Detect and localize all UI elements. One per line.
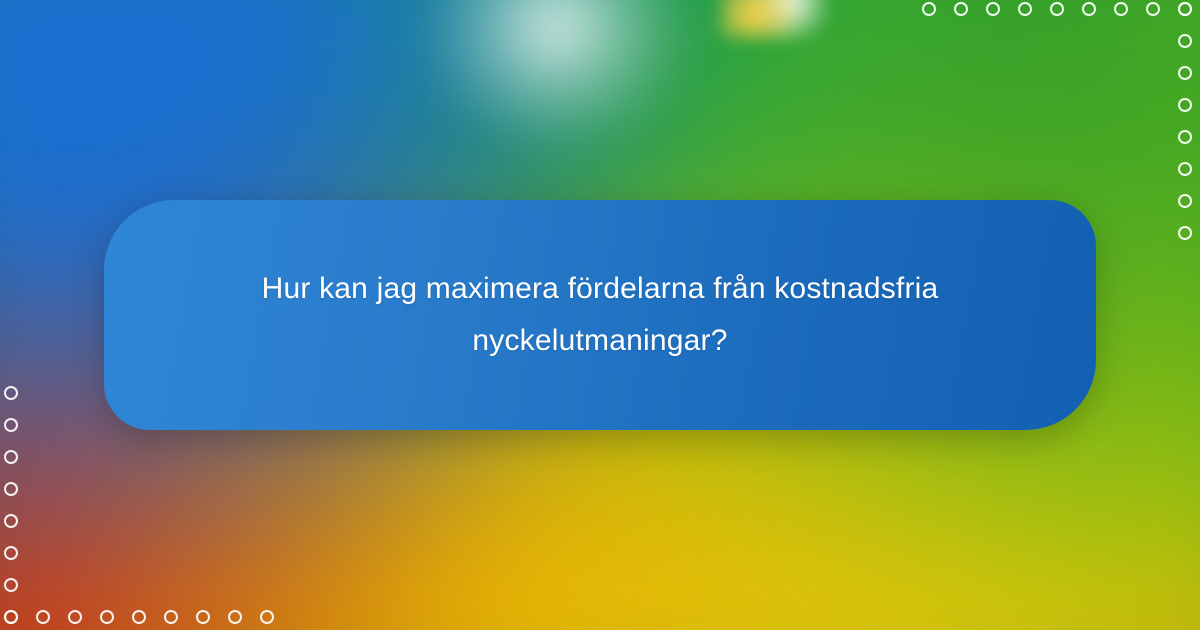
social-card-canvas: Hur kan jag maximera fördelarna från kos… [0, 0, 1200, 630]
dot [922, 2, 936, 16]
question-card: Hur kan jag maximera fördelarna från kos… [104, 200, 1096, 430]
dot [1178, 34, 1192, 48]
question-text: Hur kan jag maximera fördelarna från kos… [180, 263, 1020, 368]
dot-strip-bottom [4, 610, 274, 624]
dot-strip-top [922, 2, 1192, 16]
dot [1178, 226, 1192, 240]
dot [4, 578, 18, 592]
dot [4, 450, 18, 464]
dot [1178, 2, 1192, 16]
dot [132, 610, 146, 624]
dot [1178, 130, 1192, 144]
dot [1018, 2, 1032, 16]
dot [260, 610, 274, 624]
dot [4, 482, 18, 496]
dot [1146, 2, 1160, 16]
dot [1050, 2, 1064, 16]
dot [1082, 2, 1096, 16]
dot [4, 610, 18, 624]
dot [228, 610, 242, 624]
background-spark-icon [720, 0, 830, 38]
dot [1114, 2, 1128, 16]
dot [196, 610, 210, 624]
dot [1178, 162, 1192, 176]
dot [4, 386, 18, 400]
dot [986, 2, 1000, 16]
dot [1178, 66, 1192, 80]
dot [36, 610, 50, 624]
dot [4, 546, 18, 560]
dot [4, 418, 18, 432]
dot [1178, 194, 1192, 208]
dot [1178, 98, 1192, 112]
dot [100, 610, 114, 624]
dot [68, 610, 82, 624]
dot [4, 514, 18, 528]
dot [954, 2, 968, 16]
dot [164, 610, 178, 624]
dot-strip-right [1178, 2, 1192, 240]
dot-strip-left [4, 386, 18, 624]
